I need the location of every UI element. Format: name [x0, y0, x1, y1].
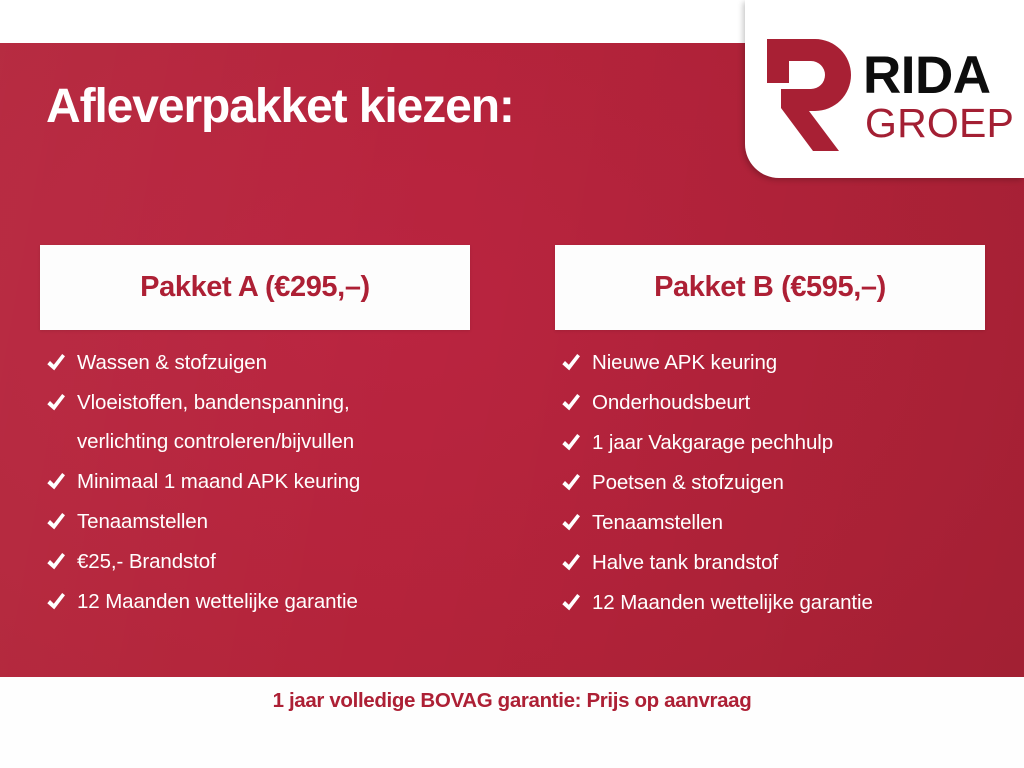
list-item-label: 12 Maanden wettelijke garantie: [77, 582, 358, 621]
check-icon: [46, 462, 66, 501]
list-item: Onderhoudsbeurt: [555, 383, 985, 422]
package-b-feature-list: Nieuwe APK keuringOnderhoudsbeurt1 jaar …: [555, 330, 985, 622]
list-item-label: €25,- Brandstof: [77, 542, 216, 581]
list-item: Poetsen & stofzuigen: [555, 463, 985, 502]
footer-band: 1 jaar volledige BOVAG garantie: Prijs o…: [0, 677, 1024, 768]
rida-r-monogram-icon: [761, 33, 857, 151]
list-item: Wassen & stofzuigen: [40, 343, 470, 382]
check-icon: [46, 343, 66, 382]
list-item: €25,- Brandstof: [40, 542, 470, 581]
list-item: Tenaamstellen: [555, 503, 985, 542]
check-icon: [46, 502, 66, 541]
package-column-b: Pakket B (€595,–) Nieuwe APK keuringOnde…: [555, 245, 985, 623]
list-item: 12 Maanden wettelijke garantie: [555, 583, 985, 622]
list-item-label: Tenaamstellen: [77, 502, 208, 541]
package-a-header: Pakket A (€295,–): [40, 245, 470, 330]
check-icon: [46, 383, 66, 422]
package-b-header: Pakket B (€595,–): [555, 245, 985, 330]
list-item: 1 jaar Vakgarage pechhulp: [555, 423, 985, 462]
list-item: Tenaamstellen: [40, 502, 470, 541]
list-item-label: Halve tank brandstof: [592, 543, 778, 582]
check-icon: [561, 383, 581, 422]
package-column-a: Pakket A (€295,–) Wassen & stofzuigenVlo…: [40, 245, 470, 622]
check-icon: [561, 543, 581, 582]
check-icon: [561, 503, 581, 542]
list-item-label: 1 jaar Vakgarage pechhulp: [592, 423, 833, 462]
check-icon: [561, 583, 581, 622]
footer-note: 1 jaar volledige BOVAG garantie: Prijs o…: [273, 689, 752, 713]
list-item-label: Poetsen & stofzuigen: [592, 463, 784, 502]
brand-name-secondary: GROEP: [865, 105, 1014, 143]
list-item: Vloeistoffen, bandenspanning,verlichting…: [40, 383, 470, 461]
list-item: Nieuwe APK keuring: [555, 343, 985, 382]
list-item-label: Nieuwe APK keuring: [592, 343, 777, 382]
list-item-label: Vloeistoffen, bandenspanning,verlichting…: [77, 383, 354, 461]
list-item: 12 Maanden wettelijke garantie: [40, 582, 470, 621]
list-item-label: Wassen & stofzuigen: [77, 343, 267, 382]
page-title: Afleverpakket kiezen:: [46, 79, 514, 134]
brand-name-primary: RIDA: [863, 52, 1014, 101]
check-icon: [561, 463, 581, 502]
package-a-title: Pakket A (€295,–): [140, 271, 370, 304]
list-item-label: Minimaal 1 maand APK keuring: [77, 462, 360, 501]
check-icon: [561, 343, 581, 382]
list-item: Halve tank brandstof: [555, 543, 985, 582]
package-b-title: Pakket B (€595,–): [654, 271, 886, 304]
list-item-label: Tenaamstellen: [592, 503, 723, 542]
package-a-feature-list: Wassen & stofzuigenVloeistoffen, bandens…: [40, 330, 470, 621]
list-item-label: 12 Maanden wettelijke garantie: [592, 583, 873, 622]
slide-canvas: RIDA GROEP Afleverpakket kiezen: Pakket …: [0, 0, 1024, 768]
check-icon: [46, 542, 66, 581]
brand-logo-plate: RIDA GROEP: [745, 0, 1024, 178]
list-item: Minimaal 1 maand APK keuring: [40, 462, 470, 501]
list-item-label: Onderhoudsbeurt: [592, 383, 750, 422]
check-icon: [561, 423, 581, 462]
check-icon: [46, 582, 66, 621]
